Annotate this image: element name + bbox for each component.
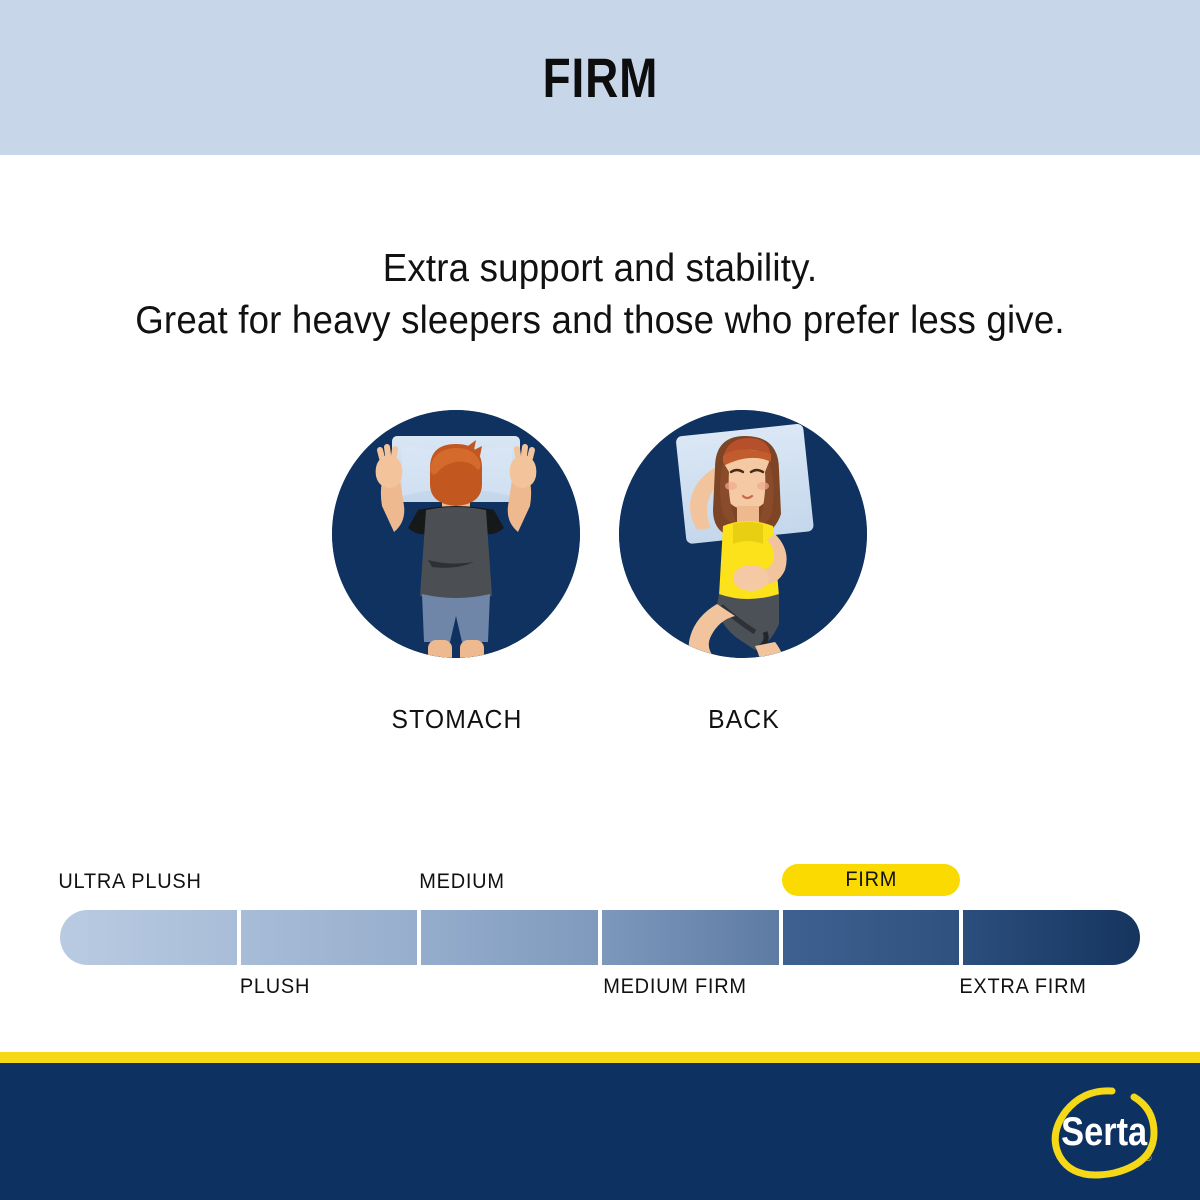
scale-segment-ultra-plush[interactable]: [60, 910, 237, 965]
firmness-scale-bar: [60, 910, 1140, 965]
serta-logo: Serta ®: [1050, 1083, 1162, 1183]
serta-logo-mark: Serta ®: [1050, 1083, 1162, 1183]
scale-label-medium: MEDIUM: [419, 870, 504, 894]
scale-segment-firm[interactable]: [783, 910, 960, 965]
scale-label-plush: PLUSH: [240, 975, 310, 999]
scale-segment-plush[interactable]: [241, 910, 418, 965]
sleep-positions: STOMACH: [0, 410, 1200, 750]
page-title: FIRM: [542, 45, 658, 110]
scale-segment-medium[interactable]: [421, 910, 598, 965]
sleep-position-back: BACK: [619, 410, 869, 735]
scale-label-firm-selected[interactable]: FIRM: [782, 864, 960, 896]
page-footer: Serta ®: [0, 1063, 1200, 1200]
subtitle-line-1: Extra support and stability.: [36, 243, 1164, 295]
scale-label-ultra-plush: ULTRA PLUSH: [58, 870, 201, 894]
back-sleeper-icon: [619, 410, 867, 658]
registered-mark: ®: [1145, 1153, 1152, 1163]
sleep-position-stomach: STOMACH: [332, 410, 582, 735]
stomach-sleeper-icon: [332, 410, 580, 658]
stomach-sleeper-illustration: [332, 410, 580, 658]
serta-logo-text: Serta: [1061, 1109, 1147, 1154]
page-header: FIRM: [0, 0, 1200, 155]
firm-pill-text: FIRM: [845, 864, 897, 896]
scale-label-extra-firm: EXTRA FIRM: [959, 975, 1086, 999]
scale-segment-extra-firm[interactable]: [963, 910, 1140, 965]
firmness-scale: ULTRA PLUSH PLUSH MEDIUM MEDIUM FIRM FIR…: [60, 862, 1140, 1012]
back-sleeper-illustration: [619, 410, 867, 658]
scale-segment-medium-firm[interactable]: [602, 910, 779, 965]
sleep-position-label: STOMACH: [338, 704, 576, 735]
subtitle-line-2: Great for heavy sleepers and those who p…: [36, 295, 1164, 347]
subtitle-block: Extra support and stability. Great for h…: [0, 243, 1200, 347]
footer-accent-stripe: [0, 1052, 1200, 1063]
scale-label-medium-firm: MEDIUM FIRM: [603, 975, 747, 999]
sleep-position-label: BACK: [625, 704, 863, 735]
